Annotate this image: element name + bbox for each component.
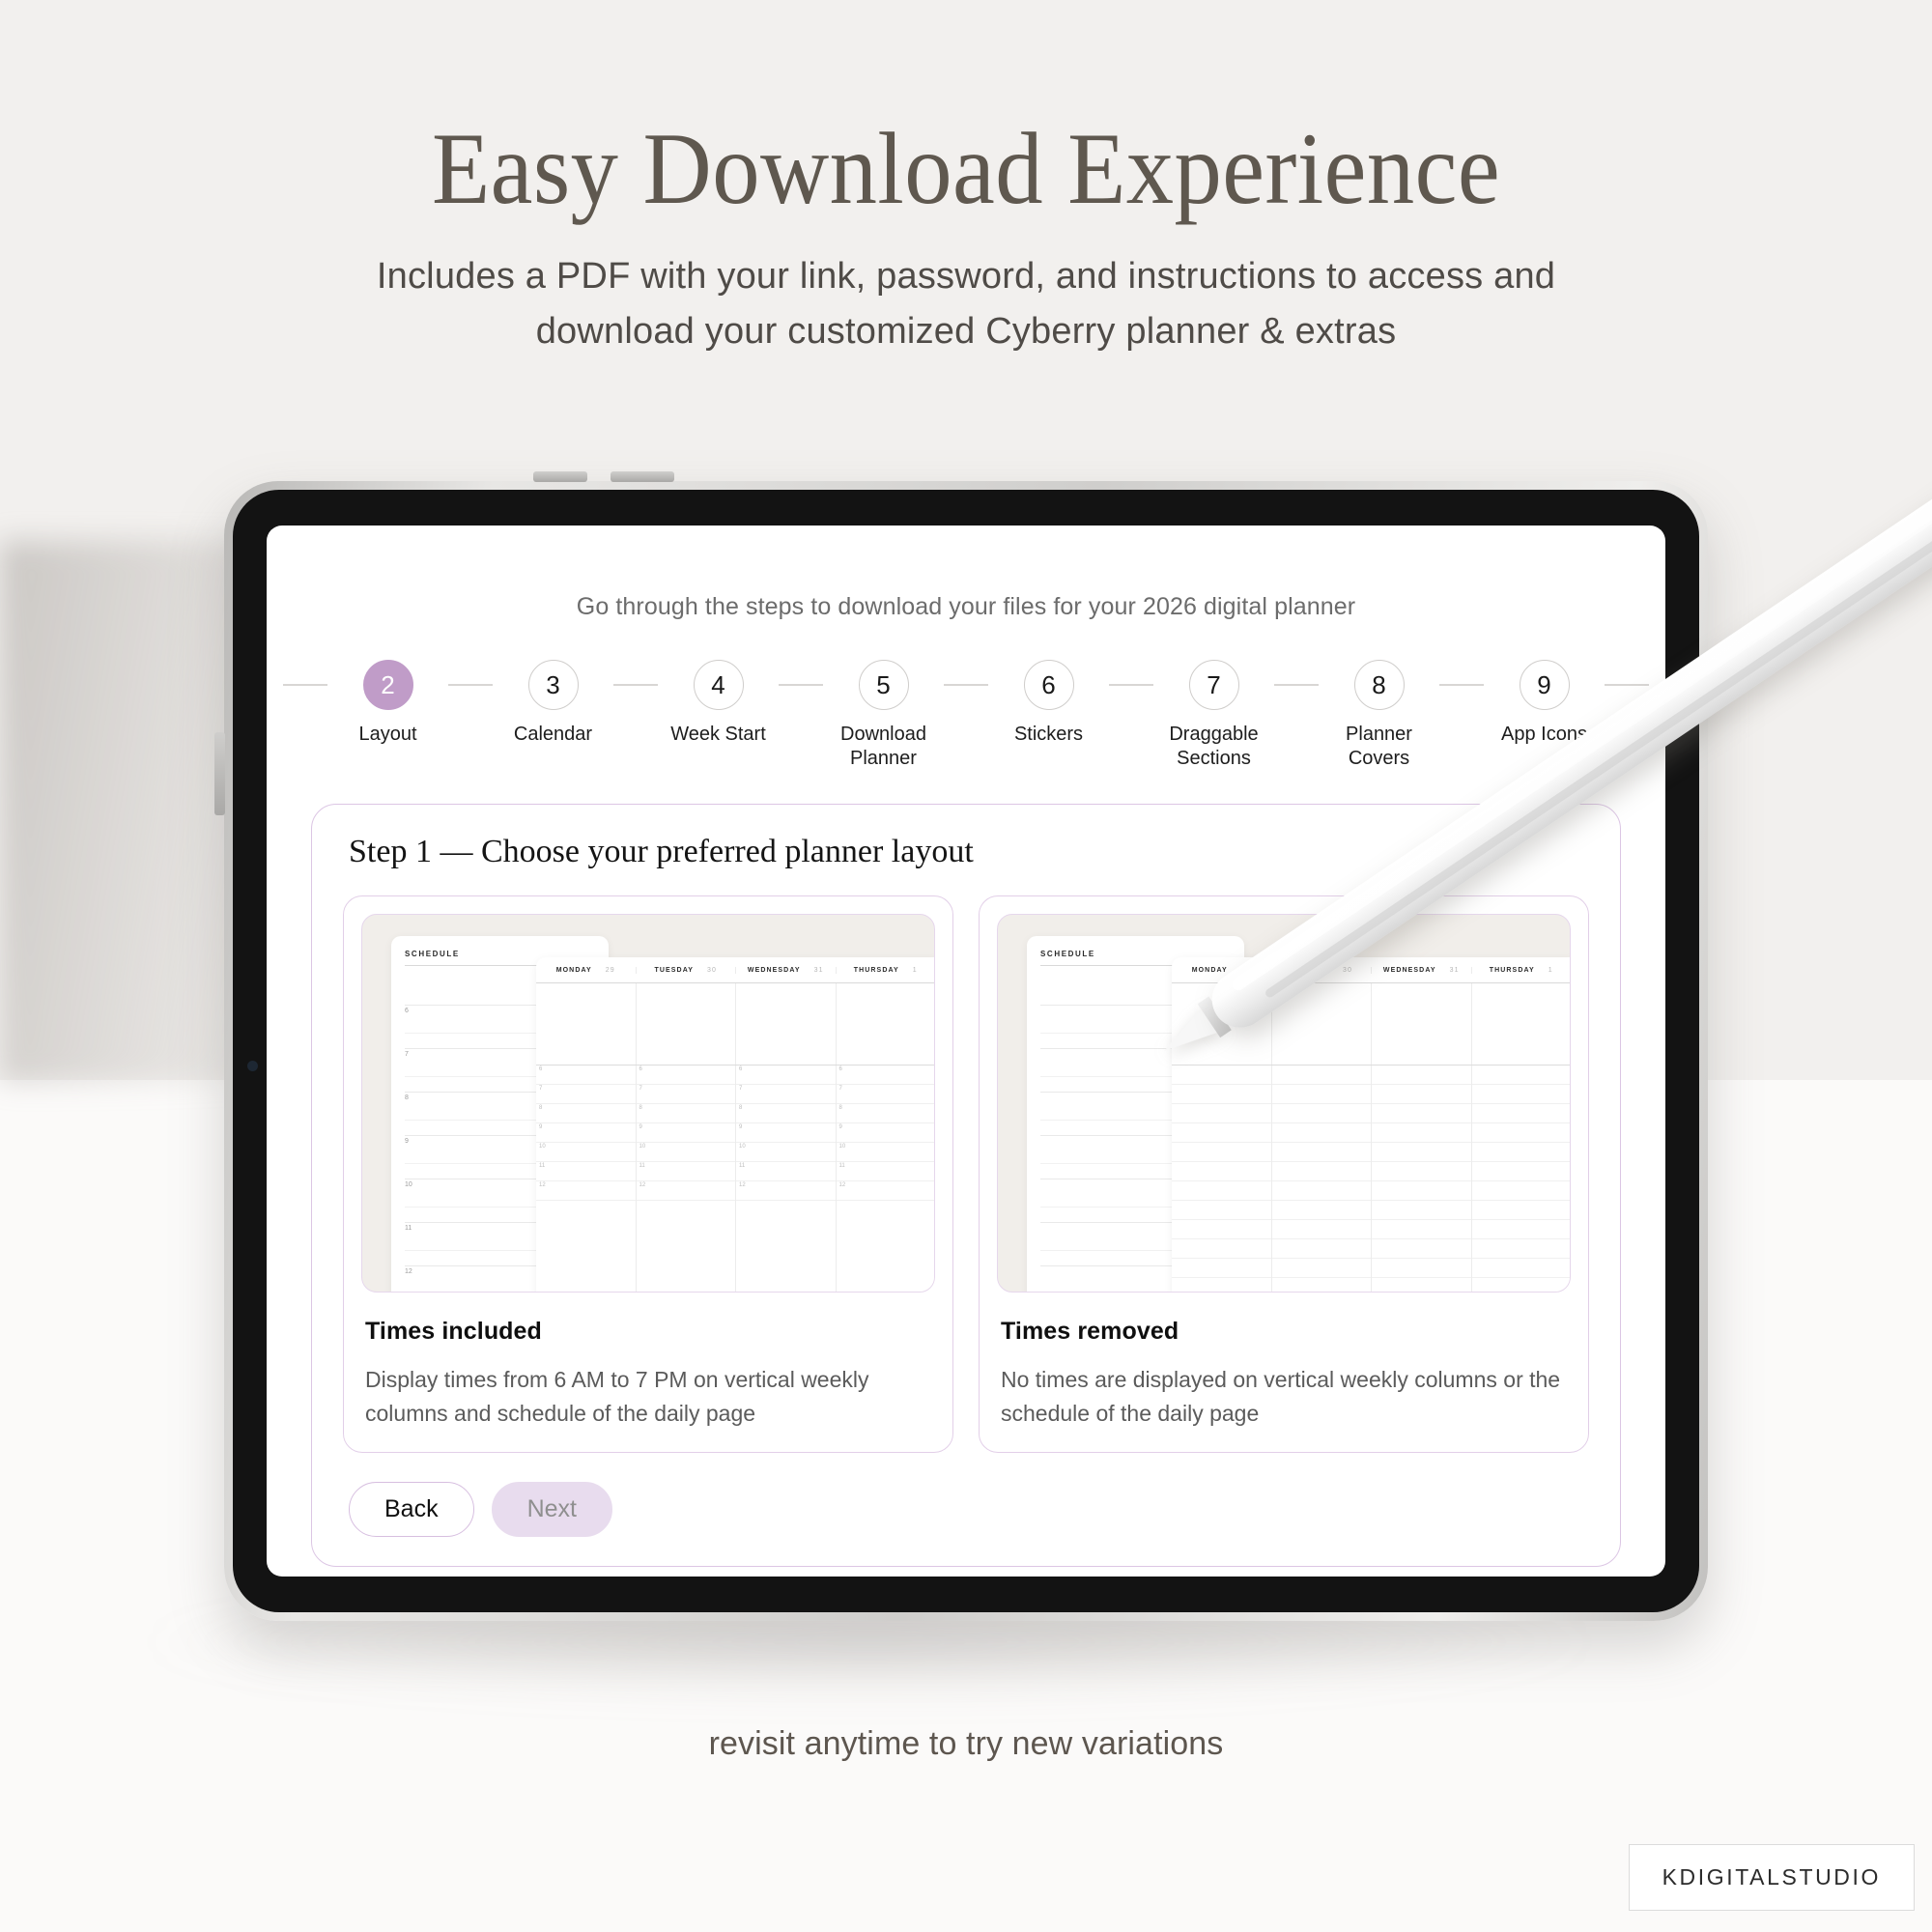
weekly-day-column: 6789101112 (536, 1065, 637, 1293)
layout-option-list: SCHEDULE6789101112123MONDAY29TUESDAY30WE… (343, 895, 1589, 1453)
weekly-day-name: THURSDAY (854, 967, 899, 974)
step-number: 5 (859, 660, 909, 710)
step-item-stickers[interactable]: 6Stickers (988, 660, 1109, 747)
weekly-page-preview: MONDAY29TUESDAY30WEDNESDAY31THURSDAY1678… (536, 957, 935, 1293)
weekly-time-cell: 8 (736, 1104, 836, 1123)
step-label: App Shortcut (1654, 723, 1665, 747)
weekly-day-column: 6789101112 (637, 1065, 737, 1293)
weekly-time-cell: 11 (736, 1162, 836, 1181)
weekly-time-cell: 8 (637, 1104, 736, 1123)
step-item-password[interactable]: 1Password (267, 660, 283, 747)
step-number: 2 (363, 660, 413, 710)
tablet-screen: Go through the steps to download your fi… (267, 526, 1665, 1577)
weekly-time-cell (1272, 1104, 1372, 1123)
planner-preview: SCHEDULE6789101112123MONDAY29TUESDAY30WE… (361, 914, 935, 1293)
weekly-time-cell (1172, 1220, 1271, 1239)
weekly-day-number: 30 (707, 967, 717, 974)
volume-button-side[interactable] (214, 732, 225, 815)
weekly-day-name: TUESDAY (654, 967, 694, 974)
weekly-time-cell (1272, 1278, 1372, 1293)
weekly-time-cell (1472, 1065, 1572, 1085)
weekly-time-cell: 12 (736, 1181, 836, 1201)
weekly-time-cell: 10 (736, 1143, 836, 1162)
weekly-day-column (1472, 1065, 1572, 1293)
weekly-notes-cell (1472, 983, 1572, 1065)
step-label: Stickers (1014, 723, 1083, 747)
weekly-day-name: TUESDAY (1290, 967, 1329, 974)
weekly-time-cell (1372, 1123, 1471, 1143)
weekly-time-cell (1372, 1104, 1471, 1123)
step-label: Calendar (514, 723, 592, 747)
weekly-day-column (1372, 1065, 1472, 1293)
weekly-notes-band (536, 983, 935, 1065)
weekly-day-cell: WEDNESDAY31 (736, 967, 837, 974)
weekly-time-cell (1272, 1085, 1372, 1104)
weekly-day-number: 1 (1548, 967, 1553, 974)
watermark-badge: KDIGITALSTUDIO (1629, 1844, 1915, 1911)
tablet-device: Go through the steps to download your fi… (224, 481, 1708, 1621)
weekly-time-cell (1172, 1065, 1271, 1085)
weekly-time-cell (1272, 1162, 1372, 1181)
step-label: Planner Covers (1319, 723, 1439, 771)
weekly-time-cell (1472, 1278, 1572, 1293)
step-connector (944, 684, 988, 686)
step-connector (283, 684, 327, 686)
weekly-time-cell: 9 (736, 1123, 836, 1143)
weekly-time-cell (1272, 1123, 1372, 1143)
weekly-time-cell (1372, 1085, 1471, 1104)
weekly-time-cell (1472, 1259, 1572, 1278)
weekly-time-cell (1272, 1181, 1372, 1201)
step-item-week-start[interactable]: 4Week Start (658, 660, 779, 747)
weekly-time-cell: 11 (536, 1162, 636, 1181)
weekly-time-cell (1172, 1259, 1271, 1278)
weekly-time-cell (1172, 1181, 1271, 1201)
weekly-time-grid: 6789101112678910111267891011126789101112 (536, 1065, 935, 1293)
weekly-time-cell (1172, 1278, 1271, 1293)
weekly-time-cell (1172, 1162, 1271, 1181)
weekly-notes-cell (1272, 983, 1373, 1065)
weekly-time-cell (1272, 1259, 1372, 1278)
weekly-time-cell (1372, 1239, 1471, 1259)
weekly-time-cell: 9 (837, 1123, 936, 1143)
layout-option-card[interactable]: SCHEDULE6789101112123MONDAY29TUESDAY30WE… (343, 895, 953, 1453)
step-connector (1274, 684, 1319, 686)
weekly-day-name: MONDAY (556, 967, 592, 974)
weekly-time-cell (1372, 1201, 1471, 1220)
weekly-time-cell (1272, 1065, 1372, 1085)
weekly-day-number: 1 (913, 967, 918, 974)
weekly-day-cell: TUESDAY30 (1272, 967, 1373, 974)
weekly-time-cell: 9 (536, 1123, 636, 1143)
weekly-notes-cell (1372, 983, 1472, 1065)
weekly-day-number: 30 (1343, 967, 1352, 974)
weekly-notes-cell (536, 983, 637, 1065)
weekly-time-cell (1272, 1143, 1372, 1162)
weekly-time-cell (1272, 1201, 1372, 1220)
step-item-layout[interactable]: 2Layout (327, 660, 448, 747)
weekly-time-cell: 10 (536, 1143, 636, 1162)
weekly-time-cell (1372, 1181, 1471, 1201)
step-item-app-shortcut[interactable]: 10App Shortcut (1649, 660, 1665, 747)
step-number: 7 (1189, 660, 1239, 710)
step-connector (1109, 684, 1153, 686)
step-connector (613, 684, 658, 686)
weekly-time-cell: 9 (637, 1123, 736, 1143)
weekly-time-cell: 8 (837, 1104, 936, 1123)
weekly-time-cell (1172, 1104, 1271, 1123)
weekly-day-name: MONDAY (1192, 967, 1228, 974)
weekly-time-cell (1372, 1162, 1471, 1181)
step-number: 6 (1024, 660, 1074, 710)
weekly-time-cell: 7 (536, 1085, 636, 1104)
weekly-time-cell (1172, 1239, 1271, 1259)
step-panel: Step 1 — Choose your preferred planner l… (311, 804, 1621, 1567)
weekly-day-name: WEDNESDAY (1383, 967, 1436, 974)
weekly-time-cell (1272, 1220, 1372, 1239)
weekly-notes-cell (837, 983, 936, 1065)
weekly-time-cell: 7 (637, 1085, 736, 1104)
weekly-time-cell: 6 (637, 1065, 736, 1085)
weekly-time-cell (1372, 1220, 1471, 1239)
weekly-day-number: 29 (1241, 967, 1251, 974)
weekly-day-column: 6789101112 (837, 1065, 936, 1293)
weekly-time-cell (1472, 1239, 1572, 1259)
weekly-day-number: 31 (1450, 967, 1460, 974)
step-label: Draggable Sections (1169, 723, 1258, 771)
weekly-day-cell: TUESDAY30 (637, 967, 737, 974)
step-connector (779, 684, 823, 686)
step-number: 8 (1354, 660, 1405, 710)
weekly-day-name: THURSDAY (1490, 967, 1535, 974)
weekly-time-cell (1472, 1104, 1572, 1123)
next-button[interactable]: Next (492, 1482, 612, 1537)
weekly-notes-cell (1172, 983, 1272, 1065)
weekly-time-cell (1172, 1201, 1271, 1220)
weekly-time-cell (1372, 1278, 1471, 1293)
weekly-time-cell (1472, 1085, 1572, 1104)
weekly-time-cell (1372, 1065, 1471, 1085)
weekly-time-cell (1472, 1220, 1572, 1239)
weekly-time-cell (1172, 1085, 1271, 1104)
step-number: 9 (1520, 660, 1570, 710)
step-item-draggable-sections[interactable]: 7Draggable Sections (1153, 660, 1274, 771)
weekly-notes-cell (736, 983, 837, 1065)
step-label: Week Start (670, 723, 766, 747)
weekly-day-name: WEDNESDAY (748, 967, 801, 974)
weekly-page-preview: MONDAY29TUESDAY30WEDNESDAY31THURSDAY1 (1172, 957, 1571, 1293)
back-button[interactable]: Back (349, 1482, 474, 1537)
weekly-time-cell (1472, 1201, 1572, 1220)
step-label: Layout (358, 723, 416, 747)
weekly-time-cell: 8 (536, 1104, 636, 1123)
weekly-day-header: MONDAY29TUESDAY30WEDNESDAY31THURSDAY1 (1172, 957, 1571, 983)
weekly-time-cell (1372, 1259, 1471, 1278)
weekly-day-cell: WEDNESDAY31 (1372, 967, 1472, 974)
page-title: Easy Download Experience (68, 0, 1864, 224)
step-label: Download Planner (840, 723, 926, 771)
weekly-time-cell: 7 (837, 1085, 936, 1104)
weekly-time-cell: 12 (637, 1181, 736, 1201)
weekly-notes-band (1172, 983, 1571, 1065)
hero-section: Easy Download Experience Includes a PDF … (0, 0, 1932, 358)
footer-note: revisit anytime to try new variations (0, 1725, 1932, 1763)
volume-button-top[interactable] (611, 471, 674, 482)
weekly-time-cell (1472, 1162, 1572, 1181)
step-item-download-planner[interactable]: 5Download Planner (823, 660, 944, 771)
weekly-time-cell: 11 (637, 1162, 736, 1181)
page-subtitle: Includes a PDF with your link, password,… (328, 249, 1604, 357)
weekly-day-column (1272, 1065, 1373, 1293)
step-item-calendar[interactable]: 3Calendar (493, 660, 613, 747)
weekly-time-cell: 7 (736, 1085, 836, 1104)
weekly-day-number: 29 (606, 967, 615, 974)
layout-option-title: Times removed (1001, 1318, 1571, 1346)
step-connector (1439, 684, 1484, 686)
step-item-app-icons[interactable]: 9App Icons (1484, 660, 1605, 747)
step-progress-bar: 1Password2Layout3Calendar4Week Start5Dow… (267, 660, 1665, 771)
weekly-time-cell (1272, 1239, 1372, 1259)
weekly-day-column (1172, 1065, 1272, 1293)
weekly-day-header: MONDAY29TUESDAY30WEDNESDAY31THURSDAY1 (536, 957, 935, 983)
weekly-day-number: 31 (814, 967, 824, 974)
weekly-day-cell: MONDAY29 (1172, 967, 1272, 974)
weekly-time-cell: 12 (837, 1181, 936, 1201)
weekly-time-cell: 10 (637, 1143, 736, 1162)
weekly-time-cell: 6 (536, 1065, 636, 1085)
step-connector (1605, 684, 1649, 686)
weekly-time-cell (1472, 1143, 1572, 1162)
step-item-planner-covers[interactable]: 8Planner Covers (1319, 660, 1439, 771)
step-panel-heading: Step 1 — Choose your preferred planner l… (349, 834, 1589, 870)
weekly-time-cell: 6 (736, 1065, 836, 1085)
weekly-day-cell: THURSDAY1 (1472, 967, 1572, 974)
weekly-time-grid (1172, 1065, 1571, 1293)
weekly-day-column: 6789101112 (736, 1065, 837, 1293)
weekly-time-cell (1172, 1143, 1271, 1162)
weekly-time-cell: 10 (837, 1143, 936, 1162)
planner-preview: SCHEDULEMONDAY29TUESDAY30WEDNESDAY31THUR… (997, 914, 1571, 1293)
power-button[interactable] (533, 471, 587, 482)
layout-option-description: No times are displayed on vertical weekl… (1001, 1363, 1571, 1431)
layout-option-description: Display times from 6 AM to 7 PM on verti… (365, 1363, 935, 1431)
weekly-day-cell: MONDAY29 (536, 967, 637, 974)
step-connector (448, 684, 493, 686)
step-number: 4 (694, 660, 744, 710)
layout-option-title: Times included (365, 1318, 935, 1346)
weekly-time-cell: 12 (536, 1181, 636, 1201)
layout-option-card[interactable]: SCHEDULEMONDAY29TUESDAY30WEDNESDAY31THUR… (979, 895, 1589, 1453)
weekly-time-cell (1172, 1123, 1271, 1143)
weekly-time-cell (1472, 1181, 1572, 1201)
weekly-time-cell: 6 (837, 1065, 936, 1085)
camera-icon (247, 1061, 258, 1071)
step-label: App Icons (1501, 723, 1587, 747)
panel-nav-buttons: Back Next (349, 1482, 1589, 1537)
weekly-time-cell (1372, 1143, 1471, 1162)
weekly-time-cell (1472, 1123, 1572, 1143)
weekly-day-cell: THURSDAY1 (837, 967, 936, 974)
weekly-notes-cell (637, 983, 737, 1065)
step-number: 3 (528, 660, 579, 710)
screen-intro-text: Go through the steps to download your fi… (267, 526, 1665, 621)
weekly-time-cell: 11 (837, 1162, 936, 1181)
